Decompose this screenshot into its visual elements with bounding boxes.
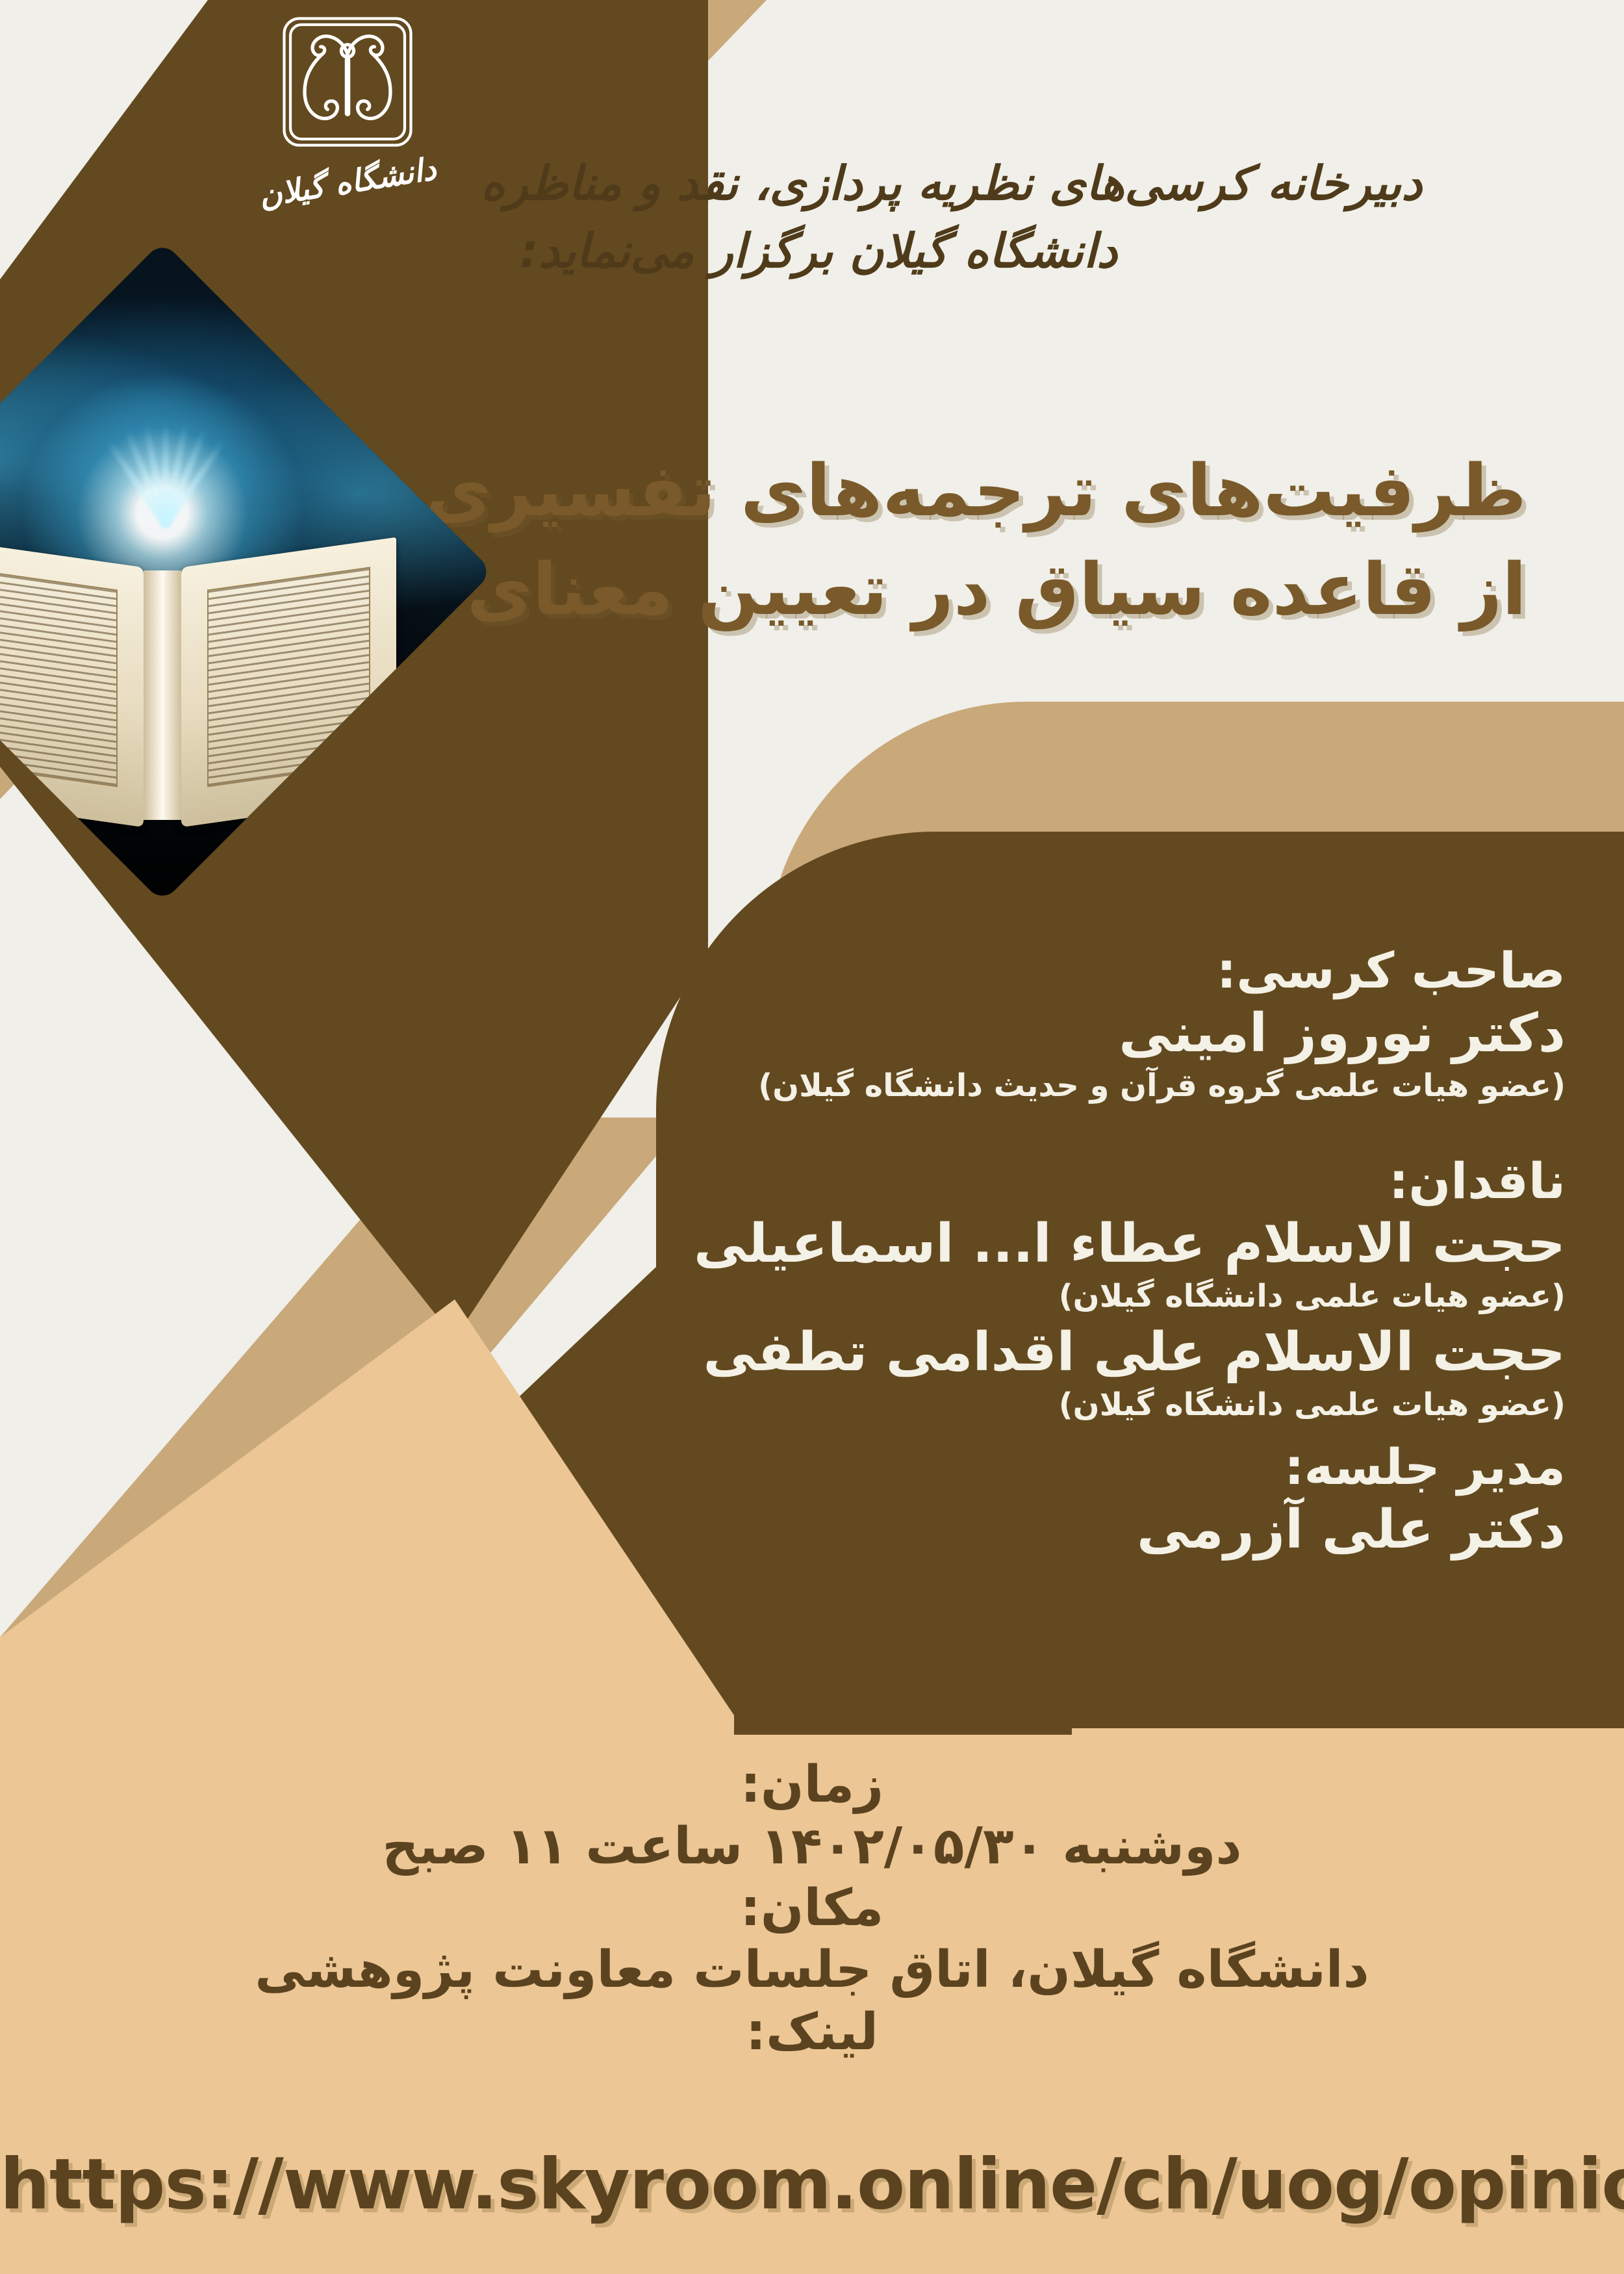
critic-2-name: حجت الاسلام علی اقدامی تطفی [494, 1320, 1566, 1385]
event-info-block: زمان: دوشنبه ۱۴۰۲/۰۵/۳۰ ساعت ۱۱ صبح مکان… [0, 1754, 1624, 2063]
critics-label: ناقدان: [494, 1151, 1566, 1212]
university-logo-caption: دانشگاه گیلان [263, 142, 432, 223]
chair-name: دکتر نوروز امینی [494, 1001, 1566, 1066]
place-value: دانشگاه گیلان، اتاق جلسات معاونت پژوهشی [0, 1939, 1624, 2001]
critic-2-affiliation: (عضو هیات علمی دانشگاه گیلان) [494, 1385, 1566, 1425]
university-of-gilan-emblem-icon [279, 13, 416, 151]
time-value: دوشنبه ۱۴۰۲/۰۵/۳۰ ساعت ۱۱ صبح [0, 1816, 1624, 1878]
header-line-2: دانشگاه گیلان برگزار می‌نماید: [481, 217, 1494, 285]
place-label: مکان: [0, 1878, 1624, 1939]
university-logo: دانشگاه گیلان [253, 13, 442, 227]
meeting-link[interactable]: https://www.skyroom.online/ch/uog/opinio… [0, 2144, 1624, 2225]
chair-affiliation: (عضو هیات علمی گروه قرآن و حدیث دانشگاه … [494, 1066, 1566, 1106]
event-poster: دانشگاه گیلان دبیرخانه کرسی‌های نظریه پر… [0, 0, 1624, 2274]
header-line-1: دبیرخانه کرسی‌های نظریه پردازی، نقد و من… [481, 149, 1494, 217]
moderator-label: مدیر جلسه: [494, 1437, 1566, 1498]
time-label: زمان: [0, 1754, 1624, 1816]
link-label: لینک: [0, 2002, 1624, 2063]
moderator-name: دکتر علی آزرمی [494, 1498, 1566, 1563]
critic-1-affiliation: (عضو هیات علمی دانشگاه گیلان) [494, 1277, 1566, 1316]
participants-block: صاحب کرسی: دکتر نوروز امینی (عضو هیات عل… [494, 929, 1566, 1563]
header-block: دبیرخانه کرسی‌های نظریه پردازی، نقد و من… [481, 149, 1494, 285]
critic-1-name: حجت الاسلام عطاء ا... اسماعیلی [494, 1212, 1566, 1277]
chair-label: صاحب کرسی: [494, 941, 1566, 1001]
